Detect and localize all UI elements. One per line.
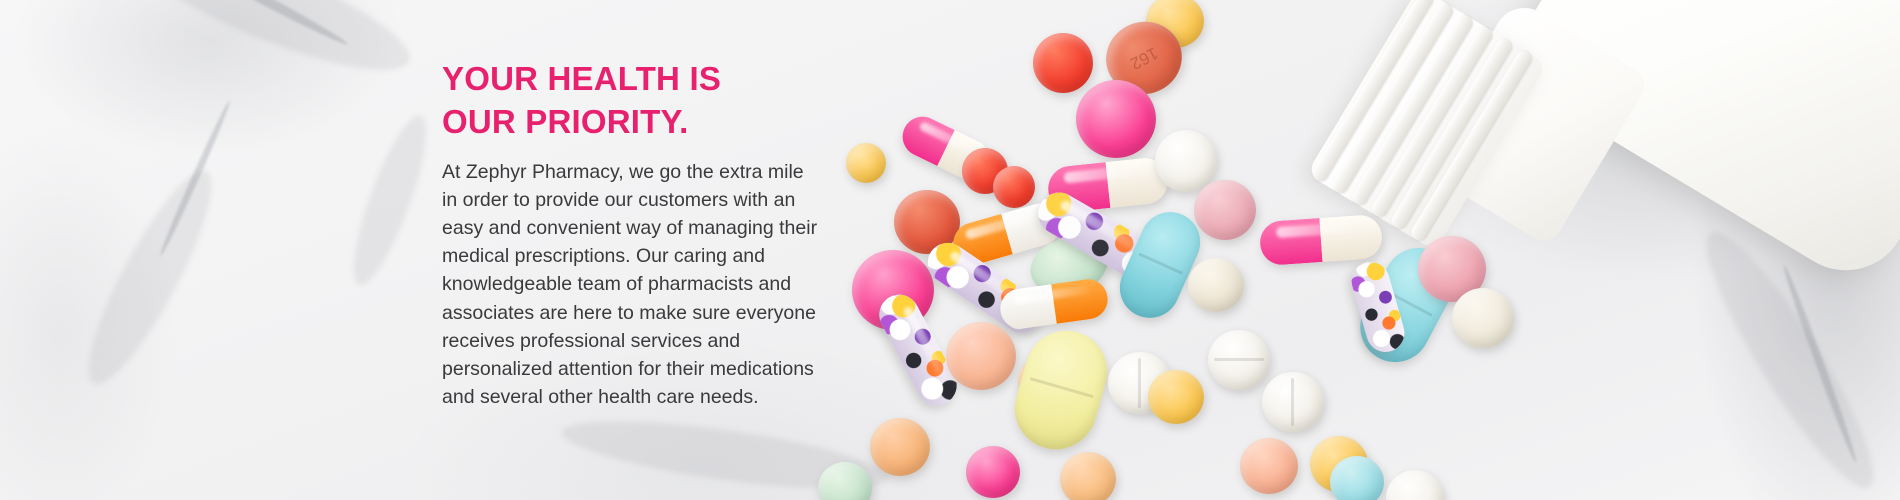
- headline-line-1: YOUR HEALTH IS: [442, 58, 842, 101]
- marble-background: [0, 0, 1900, 500]
- page-title: YOUR HEALTH IS OUR PRIORITY.: [442, 58, 842, 144]
- hero-text-block: YOUR HEALTH IS OUR PRIORITY. At Zephyr P…: [442, 58, 842, 411]
- headline-line-2: OUR PRIORITY.: [442, 101, 842, 144]
- hero-description: At Zephyr Pharmacy, we go the extra mile…: [442, 158, 824, 412]
- pharmacy-hero-banner: 162: [0, 0, 1900, 500]
